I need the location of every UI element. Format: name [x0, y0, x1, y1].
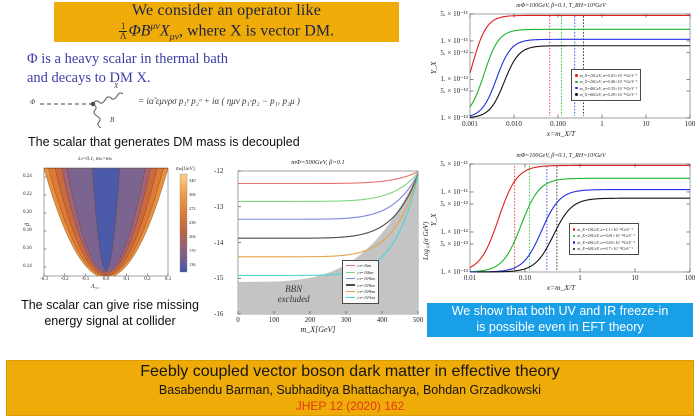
operator-subscript: μν	[170, 31, 179, 42]
feynman-diagram-svg	[30, 84, 330, 130]
legend-item: m_X=10GeV, α=0.63×10⁻¹⁵GeV⁻¹	[575, 72, 637, 78]
legend-marker	[346, 265, 355, 266]
colorbar-tick-label: 340	[189, 178, 196, 183]
x-axis-label: x=m_X/T	[424, 129, 698, 138]
legend-label: cτ=10³km	[357, 283, 374, 288]
chart-plot-area	[212, 158, 424, 340]
legend-label: cτ=10⁴km	[357, 289, 375, 294]
feynman-vertex-formula: = iα̃ εμνρσ p₁ᵖ p₂ᵒ + iα ( ημν p₁·p₂ − p…	[138, 96, 300, 106]
chart-plot-area	[424, 2, 698, 144]
colorbar-tick-label: 306	[189, 192, 196, 197]
prefactor-fraction: 1 Λ	[119, 22, 128, 41]
legend-marker	[346, 272, 355, 273]
legend-item: m_X=60GeV, α=0.7×10⁻¹³GeV⁻¹	[573, 246, 635, 252]
legend-label: m_X=40GeV, α=0.35×10⁻¹⁵GeV⁻¹	[580, 86, 638, 91]
legend-label: cτ=10km	[357, 270, 373, 275]
conclusion-callout-line2: is possible even in EFT theory	[476, 320, 643, 336]
operator-banner-line2: 1 Λ ΦBμνXμν, where X is vector DM.	[119, 21, 334, 43]
conclusion-callout: We show that both UV and IR freeze-in is…	[427, 303, 693, 337]
phi-description: Φ is a heavy scalar in thermal bath and …	[27, 50, 357, 87]
phi-description-line1: Φ is a heavy scalar in thermal bath	[27, 50, 357, 69]
feynman-diagram: Φ X B = iα̃ εμνρσ p₁ᵖ p₂ᵒ + iα ( ημν p₁·…	[30, 84, 330, 130]
x-axis-label: m_X[GeV]	[212, 325, 424, 334]
chart-legend: cτ=1kmcτ=10kmcτ=10²kmcτ=10³kmcτ=10⁴kmcτ=…	[342, 260, 379, 304]
statement-collider: The scalar can give rise missing energy …	[10, 298, 210, 329]
legend-marker	[573, 228, 575, 230]
legend-label: m_X=60GeV, α=0.7×10⁻¹³GeV⁻¹	[577, 246, 632, 251]
y-axis-label: Y_X	[429, 213, 438, 226]
legend-marker	[575, 93, 577, 95]
operator-banner-tail: , where X is vector DM.	[179, 22, 334, 39]
y-axis-label: Log₁₀(α GeV)	[422, 221, 430, 259]
legend-item: m_X=10GeV, α=1.1×10⁻¹³GeV⁻¹	[573, 226, 635, 232]
operator-superscript: μν	[150, 21, 159, 32]
colorbar-tick-label: 272	[189, 206, 196, 211]
legend-marker	[346, 297, 355, 298]
legend-label: m_X=10GeV, α=0.63×10⁻¹⁵GeV⁻¹	[580, 73, 638, 78]
legend-label: cτ=10²km	[357, 276, 374, 281]
legend-item: m_X=60GeV, α=0.29×10⁻¹⁵GeV⁻¹	[575, 91, 637, 97]
feynman-label-b: B	[110, 116, 114, 124]
legend-marker	[575, 81, 577, 83]
bbn-excluded-label-line2: excluded	[278, 295, 310, 305]
feynman-label-x: X	[114, 82, 118, 90]
legend-marker	[346, 284, 355, 285]
paper-title-banner: Feebly coupled vector boson dark matter …	[6, 360, 694, 416]
paper-title: Feebly coupled vector boson dark matter …	[140, 363, 559, 381]
legend-label: m_X=10GeV, α=1.1×10⁻¹³GeV⁻¹	[577, 227, 632, 232]
y-axis-label: Y_X	[429, 61, 438, 74]
paper-authors: Basabendu Barman, Subhaditya Bhattachary…	[159, 383, 541, 397]
y-axis-label: β	[25, 223, 31, 226]
legend-item: m_X=40GeV, α=0.35×10⁻¹⁵GeV⁻¹	[575, 85, 637, 91]
legend-marker	[346, 291, 355, 292]
legend-label: cτ=1km	[357, 263, 371, 268]
chart-bbn-exclusion: mΦ=500GeV, β=0.10100200300400500-12-13-1…	[212, 158, 424, 340]
chart-legend: m_X=10GeV, α=0.63×10⁻¹⁵GeV⁻¹m_X=20GeV, α…	[571, 69, 641, 101]
chart-uv-freezein: mΦ=100GeV, β=0.1, T_RH=10⁴GeV0.0010.0100…	[424, 2, 698, 144]
feynman-label-phi: Φ	[30, 98, 35, 106]
colorbar-tick-label: 238	[189, 220, 196, 225]
operator-banner-line1: We consider an operator like	[132, 2, 321, 20]
legend-label: m_X=20GeV, α=0.46×10⁻¹⁵GeV⁻¹	[580, 79, 638, 84]
legend-marker	[573, 241, 575, 243]
chart-plot-area	[22, 156, 212, 296]
legend-marker	[575, 87, 577, 89]
chart-plot-area	[424, 152, 698, 300]
legend-item: m_X=40GeV, α=0.65×10⁻¹³GeV⁻¹	[573, 239, 635, 245]
conclusion-callout-line1: We show that both UV and IR freeze-in	[452, 304, 669, 320]
chart-contour-mass: λₕ=0.1, mₕ>mₕ-0.3-0.2-0.10.00.10.20.30.1…	[22, 156, 212, 296]
legend-marker	[573, 235, 575, 237]
plot-frame	[470, 164, 690, 272]
legend-item: cτ=10⁵km	[346, 295, 375, 301]
legend-marker	[575, 74, 577, 76]
colorbar-tick-label: 204	[189, 234, 196, 239]
x-axis-label: x=m_X/T	[424, 283, 698, 292]
chart-legend: m_X=10GeV, α=1.1×10⁻¹³GeV⁻¹m_X=20GeV, α=…	[569, 223, 639, 255]
legend-label: m_X=20GeV, α=0.81×10⁻¹³GeV⁻¹	[577, 233, 634, 238]
operator-x-symbol: X	[160, 22, 170, 39]
colorbar-tick-label: 136	[189, 262, 196, 267]
operator-banner: We consider an operator like 1 Λ ΦBμνXμν…	[54, 2, 399, 42]
statement-collider-line2: energy signal at collider	[10, 314, 210, 330]
legend-label: m_X=60GeV, α=0.29×10⁻¹⁵GeV⁻¹	[580, 92, 638, 97]
statement-decoupled: The scalar that generates DM mass is dec…	[28, 135, 328, 149]
colorbar-title: mₕ[GeV]	[176, 166, 195, 172]
legend-label: m_X=40GeV, α=0.65×10⁻¹³GeV⁻¹	[577, 240, 634, 245]
operator-symbol: ΦB	[128, 22, 150, 39]
legend-marker	[346, 278, 355, 279]
colorbar-tick-label: 170	[189, 248, 196, 253]
legend-item: m_X=20GeV, α=0.46×10⁻¹⁵GeV⁻¹	[575, 79, 637, 85]
legend-label: cτ=10⁵km	[357, 295, 375, 300]
legend-item: m_X=20GeV, α=0.81×10⁻¹³GeV⁻¹	[573, 233, 635, 239]
bbn-excluded-label: BBNexcluded	[278, 285, 310, 305]
chart-ir-freezein: mΦ=100GeV, β=0.1, T_RH=10³GeV0.010.10110…	[424, 152, 698, 300]
statement-collider-line1: The scalar can give rise missing	[10, 298, 210, 314]
paper-reference: JHEP 12 (2020) 162	[296, 399, 405, 413]
legend-marker	[573, 248, 575, 250]
x-axis-label: Λ₅₃	[22, 284, 168, 290]
